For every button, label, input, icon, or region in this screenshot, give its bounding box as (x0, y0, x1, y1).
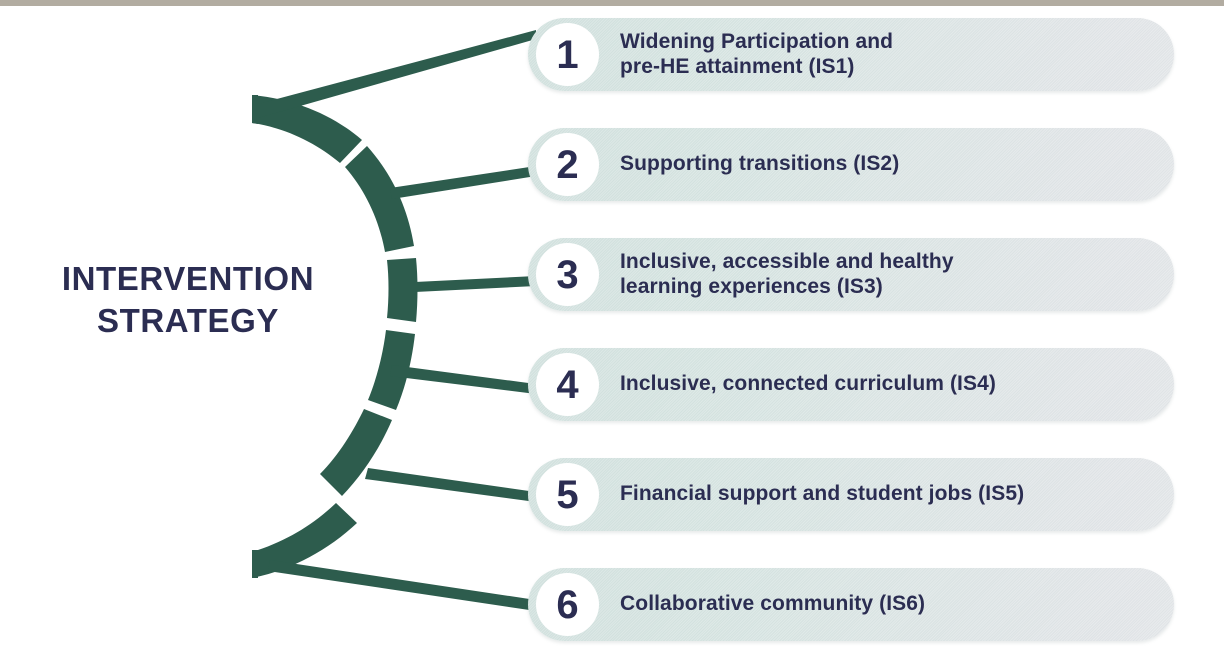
list-item[interactable]: 4 Inclusive, connected curriculum (IS4) (528, 348, 1174, 421)
top-accent-band (0, 0, 1224, 6)
bracket-arc-segment-6 (252, 503, 357, 578)
item-label: Inclusive, connected curriculum (IS4) (620, 348, 1160, 421)
item-number-badge: 3 (536, 243, 599, 306)
item-label: Financial support and student jobs (IS5) (620, 458, 1160, 531)
item-number-badge: 2 (536, 133, 599, 196)
connector-line-6 (268, 560, 536, 611)
list-item[interactable]: 1 Widening Participation and pre-HE atta… (528, 18, 1174, 91)
list-item[interactable]: 2 Supporting transitions (IS2) (528, 128, 1174, 201)
connector-line-4 (390, 365, 536, 394)
connector-line-1 (258, 30, 536, 118)
item-number-badge: 6 (536, 573, 599, 636)
bracket-arc-top-tail (252, 95, 258, 124)
bracket-arc-segment-4 (368, 330, 415, 410)
bracket-arc-segment-3 (387, 258, 418, 322)
diagram-canvas: INTERVENTION STRATEGY (0, 0, 1224, 658)
list-item[interactable]: 3 Inclusive, accessible and healthy lear… (528, 238, 1174, 311)
item-number-badge: 5 (536, 463, 599, 526)
connector-line-2 (390, 166, 536, 199)
bracket-arc-bottom-tail (252, 550, 258, 578)
bracket-arc-segment-2 (345, 146, 414, 252)
bracket-arc-segment-5 (320, 409, 392, 496)
item-number-badge: 4 (536, 353, 599, 416)
list-item[interactable]: 6 Collaborative community (IS6) (528, 568, 1174, 641)
connector-line-5 (365, 468, 536, 502)
item-label: Widening Participation and pre-HE attain… (620, 18, 1160, 91)
page-title: INTERVENTION STRATEGY (18, 258, 358, 342)
item-number-badge: 1 (536, 23, 599, 86)
list-item[interactable]: 5 Financial support and student jobs (IS… (528, 458, 1174, 531)
item-label: Inclusive, accessible and healthy learni… (620, 238, 1160, 311)
bracket-arc-segment-1 (252, 95, 362, 163)
connector-line-3 (415, 276, 536, 292)
item-label: Collaborative community (IS6) (620, 568, 1160, 641)
item-label: Supporting transitions (IS2) (620, 128, 1160, 201)
